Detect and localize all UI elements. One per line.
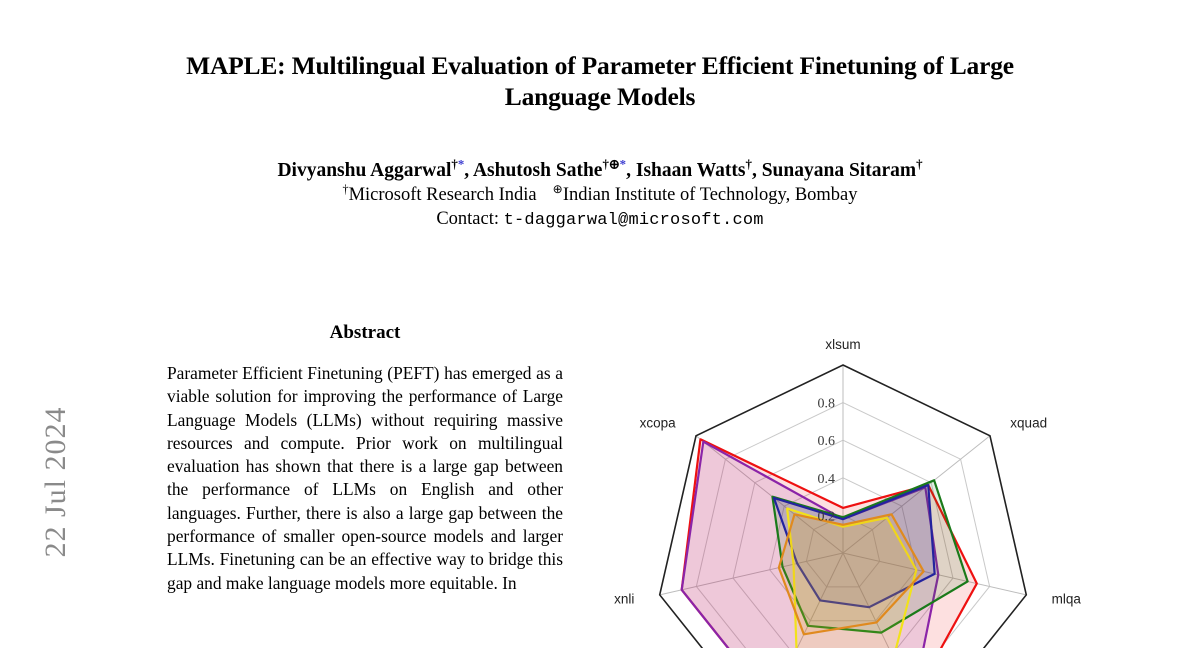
- authors-block: Divyanshu Aggarwal†*, Ashutosh Sathe†⊕*,…: [150, 158, 1050, 233]
- radar-axis-label-xnli: xnli: [614, 591, 634, 606]
- radar-series-group: [682, 439, 977, 648]
- affiliation-mark: ⊕: [553, 182, 563, 196]
- abstract-heading: Abstract: [167, 322, 563, 344]
- radar-chart-figure: 0.20.40.60.8 xlsumxquadmlqaxnlixcopa: [600, 318, 1100, 648]
- affiliation-list: †Microsoft Research India⊕Indian Institu…: [150, 183, 1050, 207]
- radar-tick-label: 0.2: [818, 509, 836, 524]
- author-affiliation-marks: †*: [451, 158, 464, 172]
- author-list: Divyanshu Aggarwal†*, Ashutosh Sathe†⊕*,…: [150, 158, 1050, 183]
- author-separator: ,: [464, 160, 473, 181]
- arxiv-date-stamp: 22 Jul 2024: [36, 382, 76, 582]
- author-name: Divyanshu Aggarwal: [277, 160, 451, 181]
- radar-axis-label-xlsum: xlsum: [825, 337, 860, 352]
- radar-tick-label: 0.8: [818, 397, 836, 412]
- author-name: Ashutosh Sathe: [473, 160, 603, 181]
- contact-email[interactable]: t-daggarwal@microsoft.com: [504, 211, 764, 230]
- abstract-body: Parameter Efficient Finetuning (PEFT) ha…: [167, 362, 563, 595]
- affiliation-name: Indian Institute of Technology, Bombay: [563, 185, 858, 205]
- contact-label: Contact:: [436, 209, 499, 229]
- radar-axis-label-xcopa: xcopa: [640, 415, 677, 430]
- author-name: Ishaan Watts: [636, 160, 746, 181]
- author-affiliation-marks: †: [916, 158, 922, 172]
- radar-axis-label-mlqa: mlqa: [1052, 591, 1082, 606]
- abstract-column: Abstract Parameter Efficient Finetuning …: [167, 322, 563, 595]
- author-separator: ,: [752, 160, 762, 181]
- radar-axis-label-xquad: xquad: [1010, 415, 1047, 430]
- page-title: MAPLE: Multilingual Evaluation of Parame…: [150, 50, 1050, 112]
- radar-tick-label: 0.4: [818, 472, 836, 487]
- contact-line: Contact: t-daggarwal@microsoft.com: [150, 207, 1050, 233]
- author-separator: ,: [626, 160, 636, 181]
- radar-chart-svg: 0.20.40.60.8 xlsumxquadmlqaxnlixcopa: [600, 318, 1100, 648]
- author-affiliation-marks: †⊕*: [602, 158, 626, 172]
- author-name: Sunayana Sitaram: [762, 160, 916, 181]
- paper-page: 22 Jul 2024 MAPLE: Multilingual Evaluati…: [0, 0, 1200, 648]
- radar-tick-label: 0.6: [818, 434, 836, 449]
- affiliation-name: Microsoft Research India: [349, 185, 537, 205]
